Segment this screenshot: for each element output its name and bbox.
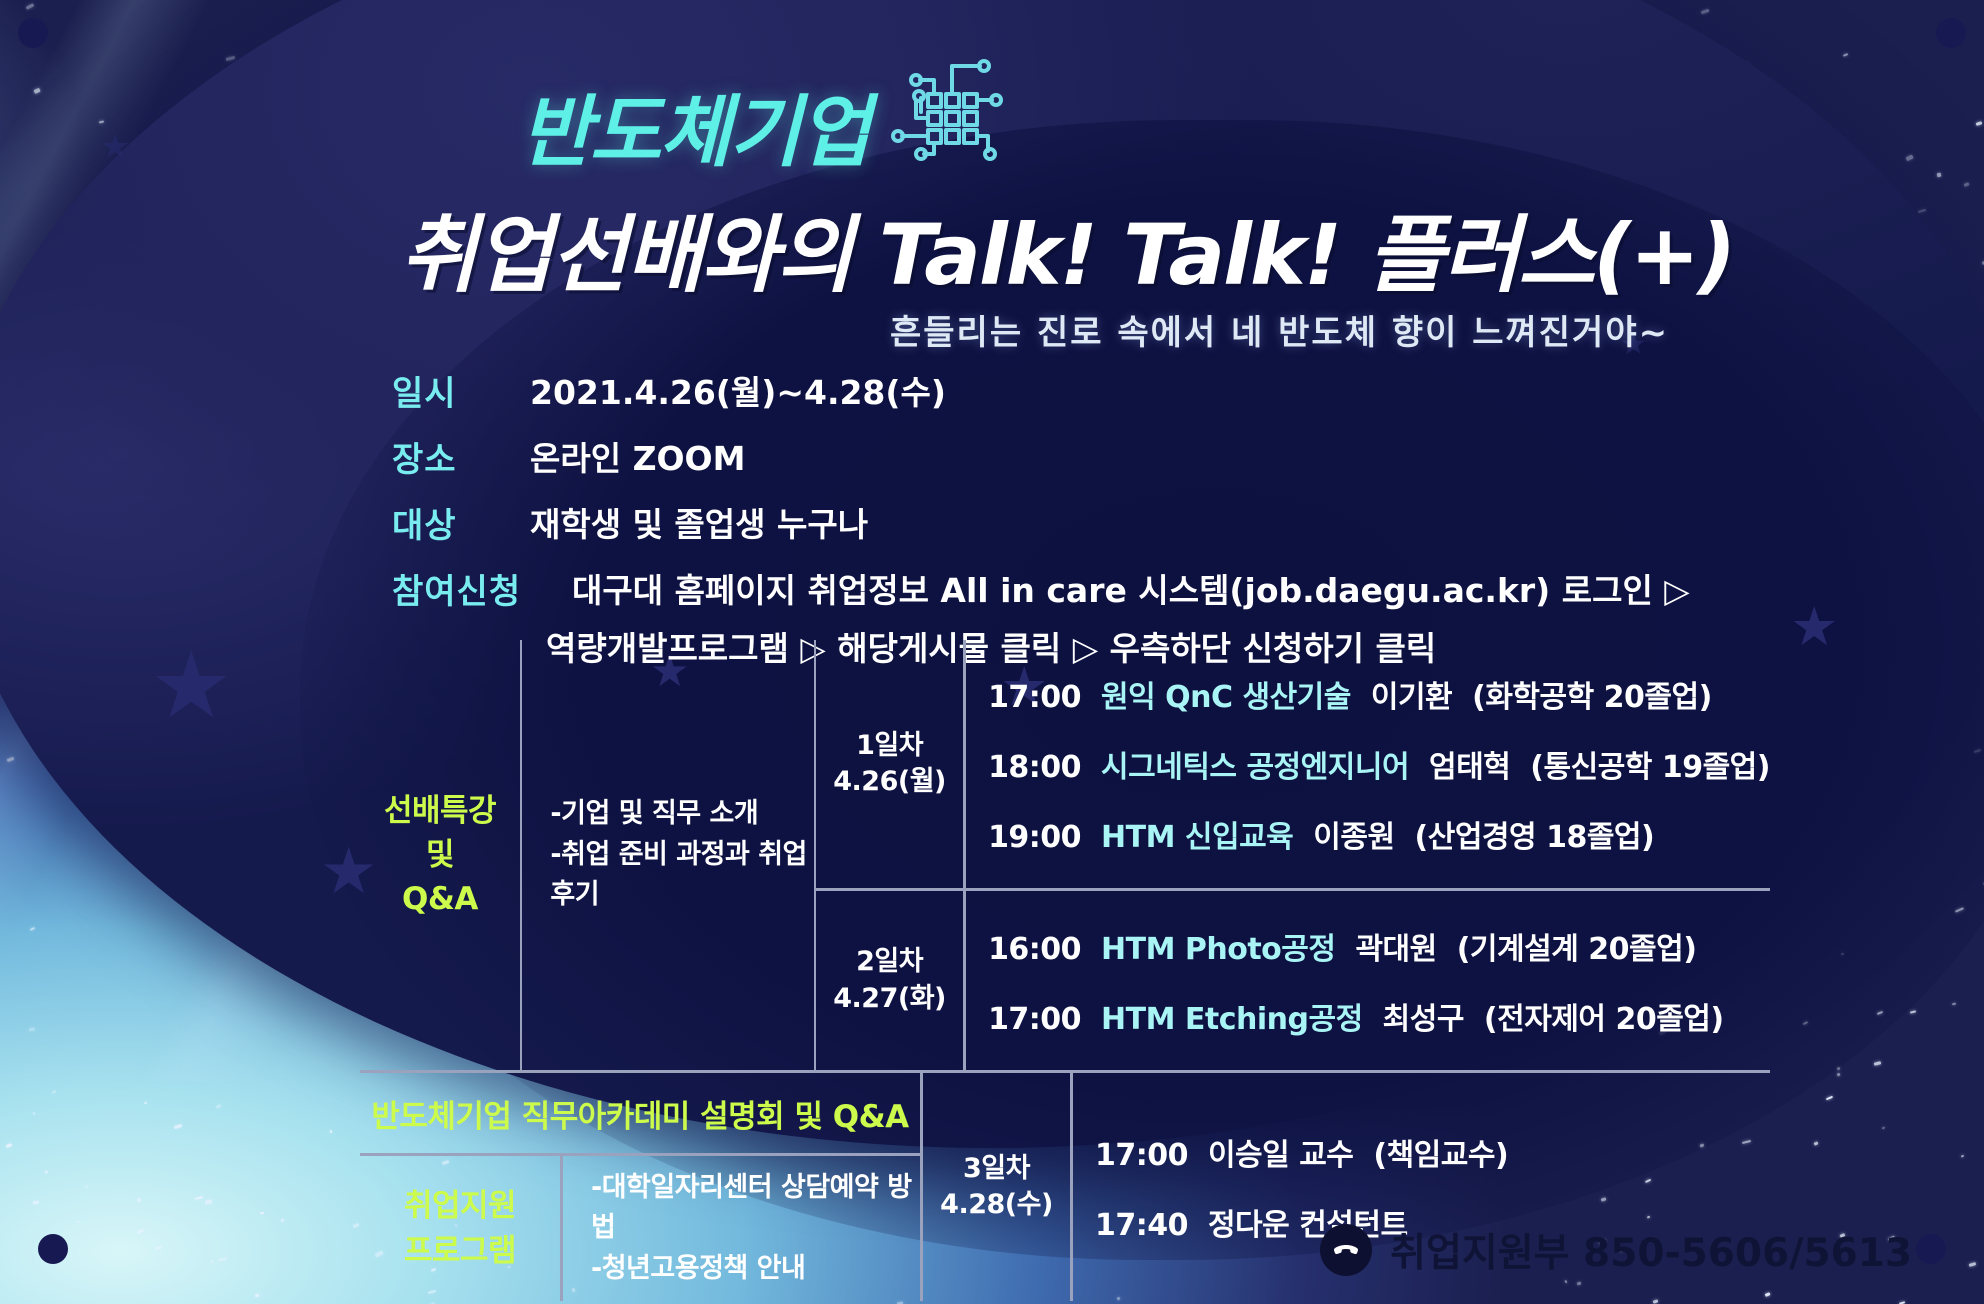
session-time: 17:40 (1095, 1208, 1188, 1243)
session-item: 17:00 이승일 교수 (책임교수) (1095, 1117, 1770, 1187)
session-detail: (화학공학 20졸업) (1472, 680, 1712, 715)
session-time: 17:00 (1095, 1138, 1188, 1173)
info-label: 장소 (392, 432, 504, 481)
page-title-line2: 취업선배와의 Talk! Talk! 플러스(+) (400, 188, 1734, 309)
info-value: 온라인 ZOOM (530, 432, 745, 480)
info-row-registration: 참여신청 대구대 홈페이지 취업정보 All in care 시스템(job.d… (392, 564, 1792, 613)
session-item: 17:00 원익 QnC 생산기술 이기환 (화학공학 20졸업) (988, 659, 1770, 729)
schedule-category-cell: 취업지원 프로그램 (360, 1156, 560, 1301)
session-detail: (전자제어 20졸업) (1484, 1002, 1724, 1037)
page-title-line1: 반도체기업 (520, 70, 869, 182)
schedule-day-label: 1일차 4.26(월) (833, 728, 946, 801)
session-speaker: 이종원 (1313, 820, 1394, 855)
session-item: 19:00 HTM 신입교육 이종원 (산업경영 18졸업) (988, 799, 1770, 869)
info-label: 일시 (392, 366, 504, 415)
corner-dot (1936, 18, 1966, 48)
phone-icon (1320, 1224, 1372, 1276)
session-item: 18:00 시그네틱스 공정엔지니어 엄태혁 (통신공학 19졸업) (988, 729, 1770, 799)
info-value: 2021.4.26(월)~4.28(수) (530, 366, 946, 414)
session-time: 17:00 (988, 680, 1081, 715)
session-item: 16:00 HTM Photo공정 곽대원 (기계설계 20졸업) (988, 911, 1770, 981)
session-time: 18:00 (988, 750, 1081, 785)
footer-contact: 취업지원부 850-5606/5613 (1320, 1222, 1912, 1278)
session-time: 16:00 (988, 932, 1081, 967)
session-title: HTM Etching공정 (1101, 1002, 1363, 1037)
session-speaker: 이기환 (1371, 680, 1452, 715)
table-row: 선배특강 및 Q&A -기업 및 직무 소개 -취업 준비 과정과 취업 후기 … (360, 640, 1770, 1070)
schedule-day-label: 3일차 4.28(수) (940, 1151, 1053, 1224)
schedule-day-label: 2일차 4.27(화) (833, 944, 946, 1017)
schedule-description-cell: -기업 및 직무 소개 -취업 준비 과정과 취업 후기 (522, 640, 813, 1070)
schedule-category-label: 취업지원 프로그램 (404, 1184, 516, 1272)
session-detail: (책임교수) (1373, 1138, 1508, 1173)
decorative-star: ★ (1790, 600, 1838, 654)
session-time: 17:00 (988, 1002, 1081, 1037)
schedule-day-cell: 3일차 4.28(수) (923, 1073, 1070, 1301)
session-speaker: 엄태혁 (1429, 750, 1510, 785)
session-detail: (기계설계 20졸업) (1457, 932, 1697, 967)
info-value: 대구대 홈페이지 취업정보 All in care 시스템(job.daegu.… (572, 564, 1690, 612)
corner-dot (38, 1234, 68, 1264)
session-title: HTM Photo공정 (1101, 932, 1335, 967)
circuit-chip-icon (888, 46, 1008, 164)
session-speaker: 최성구 (1383, 1002, 1464, 1037)
info-label: 대상 (392, 498, 504, 547)
info-value: 재학생 및 졸업생 누구나 (530, 498, 868, 546)
schedule-wide-title: 반도체기업 직무아카데미 설명회 및 Q&A (371, 1091, 908, 1136)
schedule-session-cell: 16:00 HTM Photo공정 곽대원 (기계설계 20졸업) 17:00 … (966, 891, 1770, 1070)
info-row-place: 장소 온라인 ZOOM (392, 432, 1792, 481)
schedule-session-cell: 17:00 원익 QnC 생산기술 이기환 (화학공학 20졸업) 18:00 … (966, 640, 1770, 888)
session-title: 원익 QnC 생산기술 (1101, 680, 1351, 715)
schedule-description-label: -기업 및 직무 소개 -취업 준비 과정과 취업 후기 (550, 794, 813, 916)
session-detail: (산업경영 18졸업) (1415, 820, 1655, 855)
tagline: 흔들리는 진로 속에서 네 반도체 향이 느껴진거야~ (890, 305, 1669, 354)
schedule-category-label: 선배특강 및 Q&A (384, 789, 496, 921)
info-row-audience: 대상 재학생 및 졸업생 누구나 (392, 498, 1792, 547)
session-detail: (통신공학 19졸업) (1530, 750, 1770, 785)
corner-dot (1916, 1234, 1946, 1264)
schedule-day-cell: 1일차 4.26(월) (816, 640, 963, 888)
info-row-date: 일시 2021.4.26(월)~4.28(수) (392, 366, 1792, 415)
info-label: 참여신청 (392, 564, 546, 613)
session-speaker: 이승일 교수 (1208, 1138, 1353, 1173)
event-info-list: 일시 2021.4.26(월)~4.28(수) 장소 온라인 ZOOM 대상 재… (392, 366, 1792, 670)
poster-canvas: ★ ★ ★ ★ ★ ★ ★ ★ 반도체기업 (0, 0, 1984, 1304)
schedule-category-cell: 선배특강 및 Q&A (360, 640, 520, 1070)
decorative-star: ★ (100, 130, 130, 164)
contact-text: 취업지원부 850-5606/5613 (1390, 1222, 1912, 1278)
schedule-table: 선배특강 및 Q&A -기업 및 직무 소개 -취업 준비 과정과 취업 후기 … (360, 640, 1770, 1301)
decorative-star: ★ (150, 640, 232, 732)
session-speaker: 곽대원 (1355, 932, 1436, 967)
session-item: 17:00 HTM Etching공정 최성구 (전자제어 20졸업) (988, 981, 1770, 1051)
corner-dot (18, 18, 48, 48)
schedule-description-label: -대학일자리센터 상담예약 방법 -청년고용정책 안내 (591, 1168, 920, 1290)
schedule-description-cell: -대학일자리센터 상담예약 방법 -청년고용정책 안내 (563, 1156, 920, 1301)
schedule-wide-title-cell: 반도체기업 직무아카데미 설명회 및 Q&A (360, 1073, 920, 1153)
session-time: 19:00 (988, 820, 1081, 855)
session-title: HTM 신입교육 (1101, 820, 1293, 855)
session-title: 시그네틱스 공정엔지니어 (1101, 750, 1409, 785)
schedule-day-cell: 2일차 4.27(화) (816, 891, 963, 1070)
